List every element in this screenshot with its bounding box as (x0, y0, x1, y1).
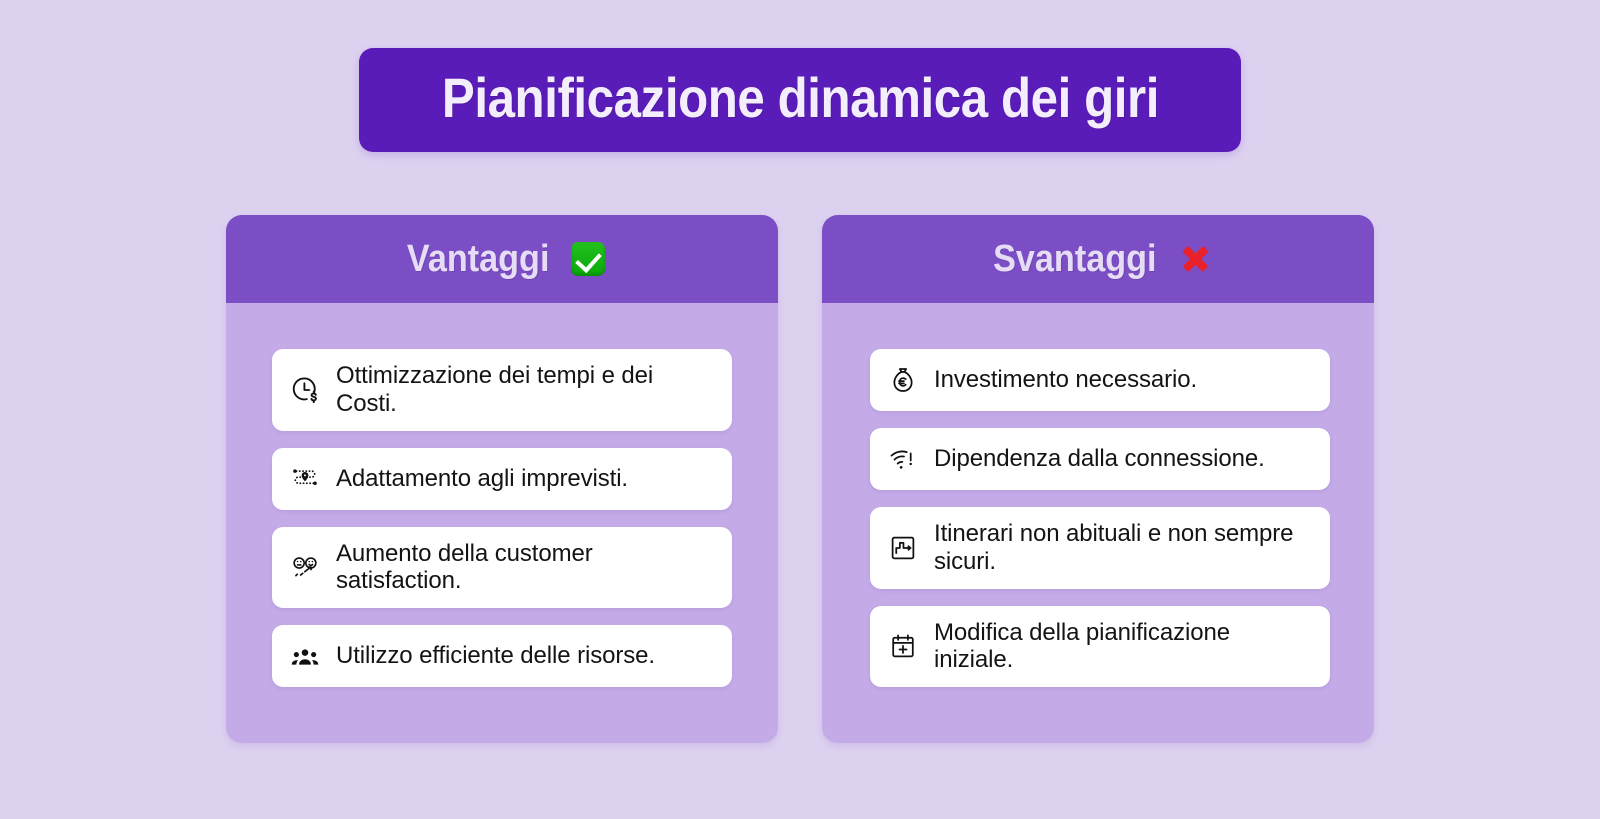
clock-dollar-icon (290, 375, 320, 405)
list-item[interactable]: Dipendenza dalla connessione. (870, 428, 1330, 490)
list-item[interactable]: Aumento della customer satisfaction. (272, 527, 732, 609)
alt-route-box-icon (888, 533, 918, 563)
route-pin-icon (290, 464, 320, 494)
mood-faces-up-icon (290, 552, 320, 582)
list-item-label: Investimento necessario. (934, 366, 1197, 394)
panel-vantaggi-title: Vantaggi (407, 240, 550, 278)
panel-svantaggi-header: Svantaggi (822, 215, 1374, 303)
panel-svantaggi-list: Investimento necessario. Dipendenza dall… (822, 303, 1374, 743)
list-item[interactable]: Modifica della pianificazione iniziale. (870, 606, 1330, 688)
panel-vantaggi-header: Vantaggi (226, 215, 778, 303)
page-title-banner: Pianificazione dinamica dei giri (359, 48, 1242, 152)
panel-vantaggi-list: Ottimizzazione dei tempi e dei Costi. Ad… (226, 303, 778, 743)
list-item[interactable]: Ottimizzazione dei tempi e dei Costi. (272, 349, 732, 431)
list-item[interactable]: Utilizzo efficiente delle risorse. (272, 625, 732, 687)
list-item-label: Utilizzo efficiente delle risorse. (336, 642, 655, 670)
page-title: Pianificazione dinamica dei giri (441, 70, 1158, 126)
calendar-plus-icon (888, 631, 918, 661)
wifi-alert-icon (888, 444, 918, 474)
list-item-label: Modifica della pianificazione iniziale. (934, 619, 1312, 675)
list-item-label: Aumento della customer satisfaction. (336, 540, 714, 596)
group-people-icon (290, 641, 320, 671)
list-item-label: Adattamento agli imprevisti. (336, 465, 628, 493)
comparison-columns: Vantaggi Ottimizzazione dei tempi e dei … (0, 215, 1600, 743)
panel-svantaggi-title: Svantaggi (993, 240, 1156, 278)
list-item-label: Dipendenza dalla connessione. (934, 445, 1265, 473)
list-item-label: Itinerari non abituali e non sempre sicu… (934, 520, 1312, 576)
panel-vantaggi: Vantaggi Ottimizzazione dei tempi e dei … (226, 215, 778, 743)
cross-mark-icon (1178, 242, 1212, 276)
panel-svantaggi: Svantaggi Investimento necessario. (822, 215, 1374, 743)
list-item[interactable]: Investimento necessario. (870, 349, 1330, 411)
page-title-banner-wrap: Pianificazione dinamica dei giri (0, 48, 1600, 152)
list-item-label: Ottimizzazione dei tempi e dei Costi. (336, 362, 714, 418)
money-bag-euro-icon (888, 365, 918, 395)
list-item[interactable]: Adattamento agli imprevisti. (272, 448, 732, 510)
check-mark-button-icon (571, 242, 605, 276)
list-item[interactable]: Itinerari non abituali e non sempre sicu… (870, 507, 1330, 589)
